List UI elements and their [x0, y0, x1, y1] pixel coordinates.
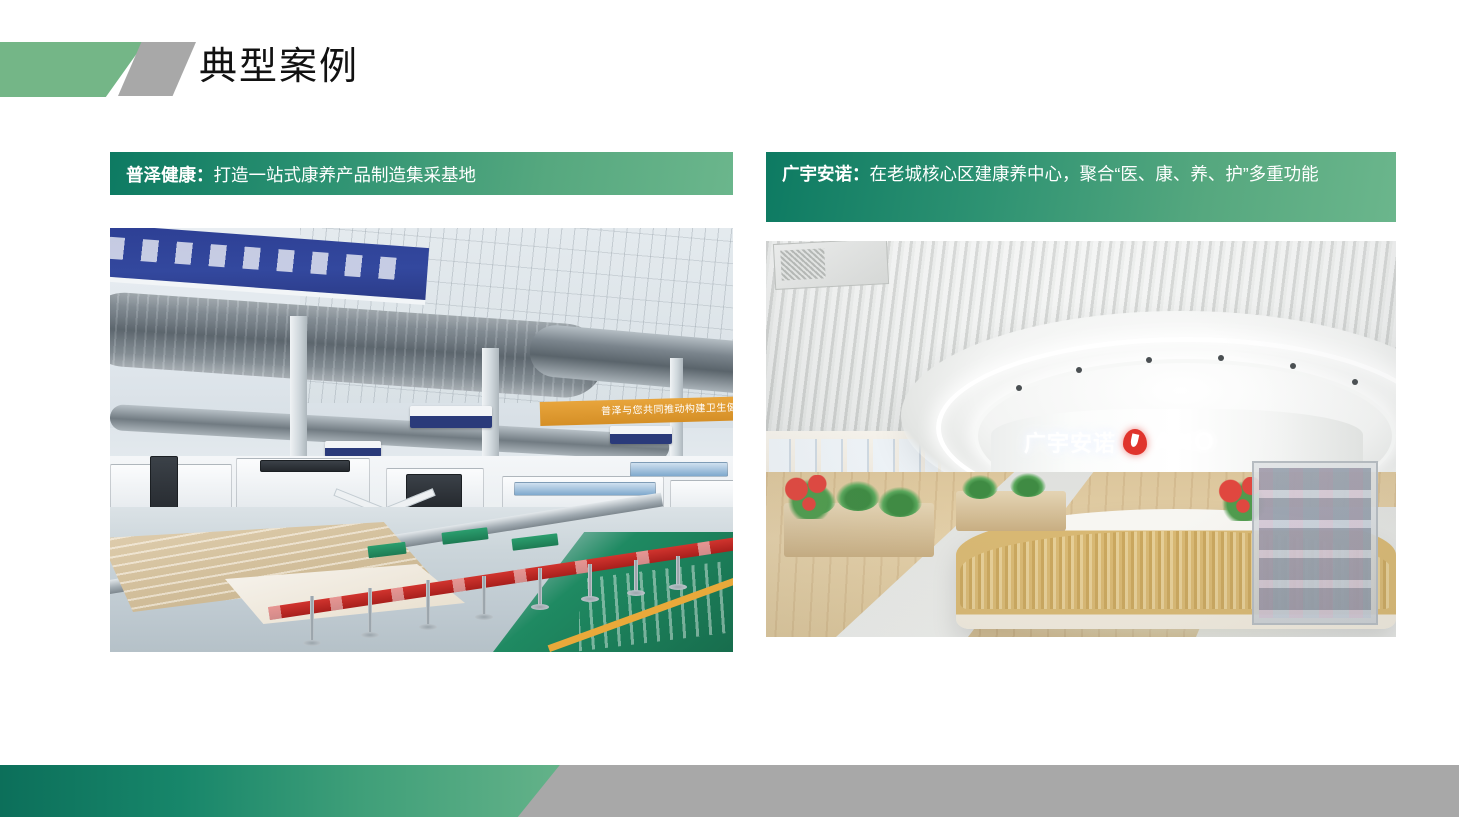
case-caption-left: 普泽健康：打造一站式康养产品制造集采基地	[110, 152, 733, 195]
case-photo-factory: 普泽与您共同推动构建卫生健康共同	[110, 228, 733, 652]
ceiling-ac-unit	[773, 241, 889, 290]
ceiling-spotlight	[1352, 379, 1358, 385]
case-caption-lead-right: 广宇安诺：	[782, 164, 870, 184]
factory-barrier-post	[426, 580, 430, 626]
retail-plant	[962, 475, 998, 499]
top-decoration	[0, 0, 200, 120]
case-caption-lead-left: 普泽健康：	[126, 165, 214, 185]
brand-logo: 广宇安诺 ANO	[1024, 425, 1324, 459]
case-caption-rest-right: 在老城核心区建康养中心，聚合“医、康、养、护”多重功能	[870, 164, 1319, 184]
factory-hanging-sign	[410, 406, 492, 428]
case-photo-health-center: 广宇安诺 ANO	[766, 241, 1396, 637]
case-card-puze-health: 普泽健康：打造一站式康养产品制造集采基地 普泽与您共同推动构建卫生健康共同	[110, 152, 733, 652]
brand-logo-en-text: ANO	[1154, 428, 1216, 457]
bottom-green-bar	[0, 765, 600, 817]
ceiling-spotlight	[1016, 385, 1022, 391]
factory-hanging-sign	[325, 441, 381, 457]
factory-barrier-post	[482, 576, 486, 616]
page-title: 典型案例	[199, 44, 359, 92]
retail-plant	[878, 487, 922, 517]
factory-barrier-post	[634, 560, 638, 592]
ceiling-spotlight	[1218, 355, 1224, 361]
factory-barrier-post	[310, 596, 314, 642]
case-card-guangyu-ano: 广宇安诺：在老城核心区建康养中心，聚合“医、康、养、护”多重功能 广宇安诺 AN…	[766, 152, 1396, 637]
factory-barrier-post	[588, 564, 592, 598]
ceiling-spotlight	[1146, 357, 1152, 363]
retail-plant	[1010, 473, 1046, 497]
bottom-decoration	[0, 765, 1459, 817]
factory-barrier-post	[538, 568, 542, 606]
factory-barrier-post	[676, 556, 680, 586]
factory-hanging-sign	[610, 426, 672, 444]
retail-plant	[836, 481, 880, 511]
retail-flower-arrangement	[784, 475, 836, 519]
top-green-parallelogram	[0, 42, 145, 97]
factory-barrier-post	[368, 588, 372, 634]
brand-logo-mark-icon	[1123, 429, 1147, 455]
factory-machine	[514, 482, 656, 496]
top-gray-parallelogram	[118, 42, 196, 96]
case-caption-right: 广宇安诺：在老城核心区建康养中心，聚合“医、康、养、护”多重功能	[766, 152, 1396, 222]
ceiling-spotlight	[1076, 367, 1082, 373]
factory-machine	[630, 462, 728, 477]
retail-product-rack	[1252, 461, 1378, 625]
ceiling-spotlight	[1290, 363, 1296, 369]
case-caption-rest-left: 打造一站式康养产品制造集采基地	[214, 165, 477, 185]
brand-logo-cn-text: 广宇安诺	[1024, 426, 1116, 458]
factory-machine	[260, 460, 350, 472]
